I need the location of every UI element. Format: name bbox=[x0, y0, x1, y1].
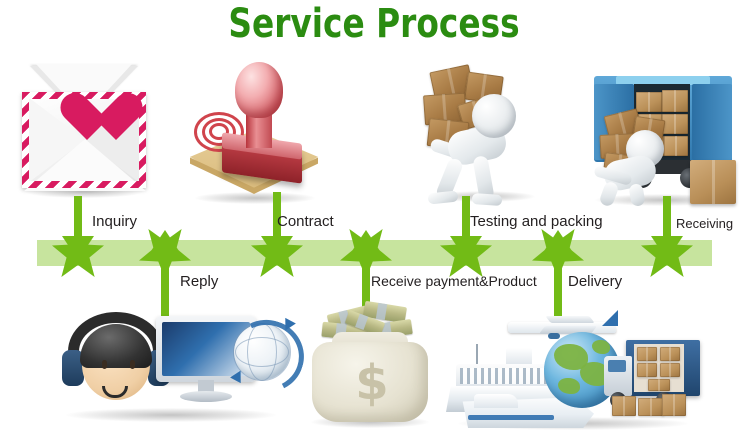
step-label-inquiry: Inquiry bbox=[92, 214, 137, 230]
delivery-truck-window bbox=[608, 360, 626, 372]
agent-eye-right bbox=[130, 360, 135, 369]
step-label-payment: Receive payment&Product bbox=[371, 273, 537, 289]
airplane-engine-left bbox=[548, 333, 560, 339]
truck-door-right bbox=[692, 84, 732, 160]
step-label-delivery: Delivery bbox=[568, 274, 622, 290]
airplane-tail bbox=[602, 310, 618, 326]
rubber-stamp-icon bbox=[182, 58, 328, 206]
dollar-sign-icon: $ bbox=[352, 360, 392, 408]
step-label-reply: Reply bbox=[180, 274, 218, 290]
stamp-handle bbox=[235, 62, 283, 118]
step-label-contract: Contract bbox=[277, 214, 334, 230]
truck-loading-icon bbox=[588, 72, 738, 206]
heart-icon bbox=[60, 94, 116, 144]
globe-rotation-arrows bbox=[226, 314, 298, 390]
floor-box bbox=[690, 160, 736, 204]
airplane-wing-far bbox=[545, 316, 594, 323]
delivery-truck-icon bbox=[604, 340, 700, 416]
carrier-head bbox=[472, 94, 516, 138]
diagram-canvas: Service Process bbox=[0, 0, 748, 436]
step-label-receiving: Receiving bbox=[676, 216, 733, 232]
box-carrier-icon bbox=[420, 66, 546, 206]
stamp-shadow bbox=[195, 192, 315, 204]
monitor-stand-base bbox=[180, 391, 232, 402]
yacht-stripe bbox=[468, 415, 554, 420]
yacht-cabin bbox=[474, 394, 518, 408]
agent-eye-left bbox=[102, 360, 107, 369]
support-agent-icon bbox=[52, 306, 290, 430]
ship-mast bbox=[476, 344, 478, 366]
logistics-icon bbox=[446, 306, 700, 432]
support-shadow bbox=[66, 408, 276, 422]
money-bag-icon: $ bbox=[302, 302, 438, 430]
headset bbox=[68, 312, 164, 398]
envelope-heart-icon bbox=[14, 62, 154, 202]
page-title: Service Process bbox=[67, 2, 680, 46]
ship-cabin-windows bbox=[460, 368, 548, 384]
step-label-testing: Testing and packing bbox=[470, 214, 603, 230]
delivery-truck-cargo bbox=[634, 344, 684, 392]
